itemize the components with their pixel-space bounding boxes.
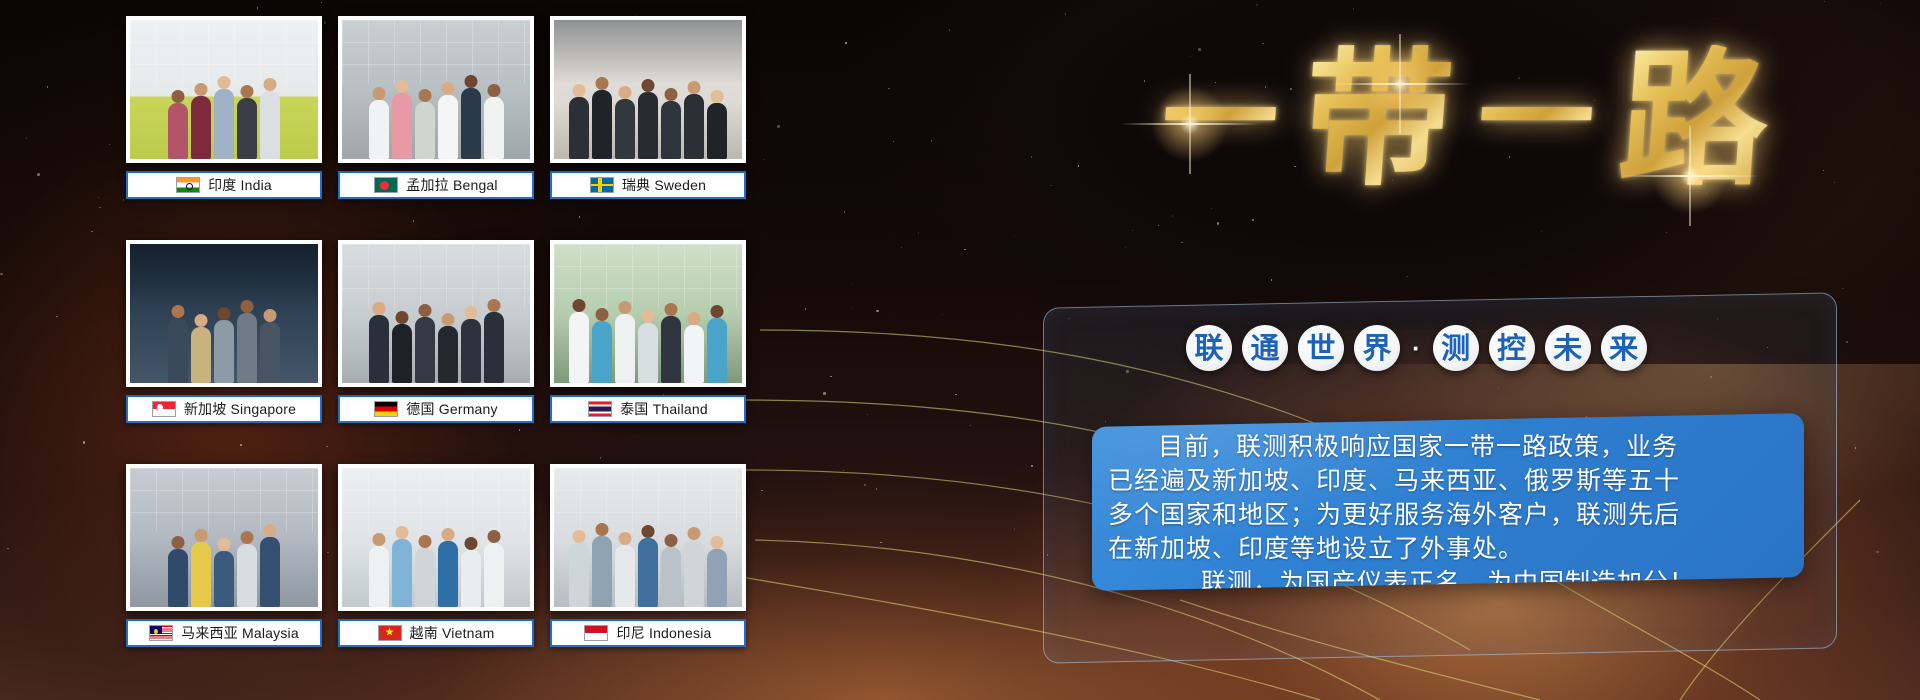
country-photo[interactable] — [126, 16, 322, 163]
gallery-item[interactable]: 瑞典 Sweden — [550, 16, 746, 226]
person-silhouette — [461, 319, 481, 383]
company-slogan: 联通世界·测控未来 — [1186, 325, 1647, 371]
person-silhouette — [191, 96, 211, 159]
slogan-char-9: 来 — [1601, 325, 1647, 371]
photo-people-group — [554, 283, 742, 383]
photo-scene — [130, 468, 318, 607]
person-silhouette — [684, 94, 704, 159]
person-silhouette — [438, 95, 458, 159]
person-silhouette — [369, 100, 389, 159]
photo-scene — [130, 244, 318, 383]
person-silhouette — [484, 312, 504, 383]
person-silhouette — [592, 321, 612, 383]
person-silhouette — [369, 546, 389, 607]
person-silhouette — [415, 548, 435, 607]
country-label-text: 印度 India — [208, 175, 272, 195]
slogan-char-4: 界 — [1354, 325, 1400, 371]
photo-scene — [342, 244, 530, 383]
person-silhouette — [638, 538, 658, 607]
person-silhouette — [415, 102, 435, 159]
person-silhouette — [569, 312, 589, 383]
photo-people-group — [554, 59, 742, 159]
person-silhouette — [392, 539, 412, 607]
person-silhouette — [592, 536, 612, 607]
gallery-item[interactable]: 德国 Germany — [338, 240, 534, 450]
photo-scene — [554, 468, 742, 607]
photo-scene — [342, 20, 530, 159]
person-silhouette — [392, 324, 412, 383]
country-photo[interactable] — [126, 240, 322, 387]
person-silhouette — [415, 317, 435, 383]
country-label[interactable]: 印度 India — [126, 171, 322, 199]
photo-scene — [554, 20, 742, 159]
slogan-char-2: 通 — [1242, 325, 1288, 371]
person-silhouette — [661, 547, 681, 607]
person-silhouette — [214, 320, 234, 383]
country-label[interactable]: 泰国 Thailand — [550, 395, 746, 423]
country-photo[interactable] — [338, 464, 534, 611]
photo-people-group — [342, 507, 530, 607]
person-silhouette — [168, 103, 188, 159]
gallery-item[interactable]: 马来西亚 Malaysia — [126, 464, 322, 674]
gallery-item[interactable]: 印度 India — [126, 16, 322, 226]
dark-sky-region — [760, 0, 1920, 330]
gallery-item[interactable]: 泰国 Thailand — [550, 240, 746, 450]
description-box: 目前，联测积极响应国家一带一路政策，业务 已经遍及新加坡、印度、马来西亚、俄罗斯… — [1092, 413, 1804, 591]
photo-people-group — [130, 283, 318, 383]
country-label-text: 新加坡 Singapore — [184, 399, 296, 419]
flag-thailand-icon — [588, 401, 612, 417]
gallery-item[interactable]: 印尼 Indonesia — [550, 464, 746, 674]
person-silhouette — [260, 322, 280, 383]
country-label[interactable]: 越南 Vietnam — [338, 619, 534, 647]
flag-vietnam-icon — [378, 625, 402, 641]
photo-people-group — [342, 283, 530, 383]
slogan-char-3: 世 — [1298, 325, 1344, 371]
person-silhouette — [707, 103, 727, 159]
person-silhouette — [484, 97, 504, 159]
person-silhouette — [661, 316, 681, 383]
person-silhouette — [638, 323, 658, 383]
person-silhouette — [260, 537, 280, 607]
person-silhouette — [369, 315, 389, 383]
person-silhouette — [661, 101, 681, 159]
flag-malaysia-icon — [149, 625, 173, 641]
person-silhouette — [484, 543, 504, 607]
country-label-text: 孟加拉 Bengal — [406, 175, 497, 195]
person-silhouette — [392, 93, 412, 159]
country-photo[interactable] — [338, 16, 534, 163]
gallery-item[interactable]: 越南 Vietnam — [338, 464, 534, 674]
person-silhouette — [237, 98, 257, 159]
person-silhouette — [569, 543, 589, 607]
person-silhouette — [191, 327, 211, 383]
flag-germany-icon — [374, 401, 398, 417]
slogan-char-8: 未 — [1545, 325, 1591, 371]
person-silhouette — [569, 97, 589, 159]
flag-indonesia-icon — [584, 625, 608, 641]
person-silhouette — [615, 545, 635, 607]
description-line-2: 已经遍及新加坡、印度、马来西亚、俄罗斯等五十 — [1108, 464, 1788, 498]
person-silhouette — [237, 313, 257, 383]
person-silhouette — [191, 542, 211, 607]
country-photo[interactable] — [550, 464, 746, 611]
person-silhouette — [214, 89, 234, 159]
country-label[interactable]: 德国 Germany — [338, 395, 534, 423]
country-label-text: 马来西亚 Malaysia — [181, 623, 299, 643]
person-silhouette — [684, 325, 704, 383]
country-label-text: 瑞典 Sweden — [622, 175, 706, 195]
person-silhouette — [237, 544, 257, 607]
person-silhouette — [592, 90, 612, 159]
photo-people-group — [554, 507, 742, 607]
country-label[interactable]: 孟加拉 Bengal — [338, 171, 534, 199]
slogan-char-6: 测 — [1433, 325, 1479, 371]
person-silhouette — [214, 551, 234, 607]
country-label[interactable]: 瑞典 Sweden — [550, 171, 746, 199]
gallery-item[interactable]: 孟加拉 Bengal — [338, 16, 534, 226]
country-label[interactable]: 马来西亚 Malaysia — [126, 619, 322, 647]
person-silhouette — [615, 99, 635, 159]
person-silhouette — [438, 541, 458, 607]
slogan-char-1: 联 — [1186, 325, 1232, 371]
person-silhouette — [684, 540, 704, 607]
country-label[interactable]: 印尼 Indonesia — [550, 619, 746, 647]
flag-bangladesh-icon — [374, 177, 398, 193]
country-label-text: 泰国 Thailand — [620, 399, 708, 419]
country-label-text: 德国 Germany — [406, 399, 497, 419]
country-label-text: 印尼 Indonesia — [616, 623, 711, 643]
country-photo-grid: 印度 India孟加拉 Bengal瑞典 Sweden新加坡 Singapore… — [126, 16, 760, 684]
person-silhouette — [461, 88, 481, 159]
slogan-char-7: 控 — [1489, 325, 1535, 371]
country-photo[interactable] — [126, 464, 322, 611]
person-silhouette — [707, 318, 727, 383]
photo-scene — [342, 468, 530, 607]
photo-scene — [130, 20, 318, 159]
photo-people-group — [342, 59, 530, 159]
description-line-1: 目前，联测积极响应国家一带一路政策，业务 — [1108, 430, 1788, 464]
description-line-3: 多个国家和地区；为更好服务海外客户，联测先后 — [1108, 498, 1788, 532]
photo-scene — [554, 244, 742, 383]
person-silhouette — [707, 549, 727, 607]
flag-singapore-icon — [152, 401, 176, 417]
person-silhouette — [168, 318, 188, 383]
country-photo[interactable] — [550, 240, 746, 387]
slogan-separator-dot: · — [1410, 333, 1423, 364]
person-silhouette — [438, 326, 458, 383]
country-label-text: 越南 Vietnam — [410, 623, 495, 643]
promotional-banner: 一 带 一 路 印度 India孟加拉 Bengal瑞典 Sweden新加坡 S… — [0, 0, 1920, 700]
country-label[interactable]: 新加坡 Singapore — [126, 395, 322, 423]
photo-people-group — [130, 507, 318, 607]
country-photo[interactable] — [550, 16, 746, 163]
photo-people-group — [130, 59, 318, 159]
person-silhouette — [260, 91, 280, 159]
description-line-4: 在新加坡、印度等地设立了外事处。 — [1108, 532, 1788, 566]
country-photo[interactable] — [338, 240, 534, 387]
person-silhouette — [461, 550, 481, 607]
gallery-item[interactable]: 新加坡 Singapore — [126, 240, 322, 450]
flag-sweden-icon — [590, 177, 614, 193]
person-silhouette — [638, 92, 658, 159]
flag-india-icon — [176, 177, 200, 193]
person-silhouette — [168, 549, 188, 607]
person-silhouette — [615, 314, 635, 383]
